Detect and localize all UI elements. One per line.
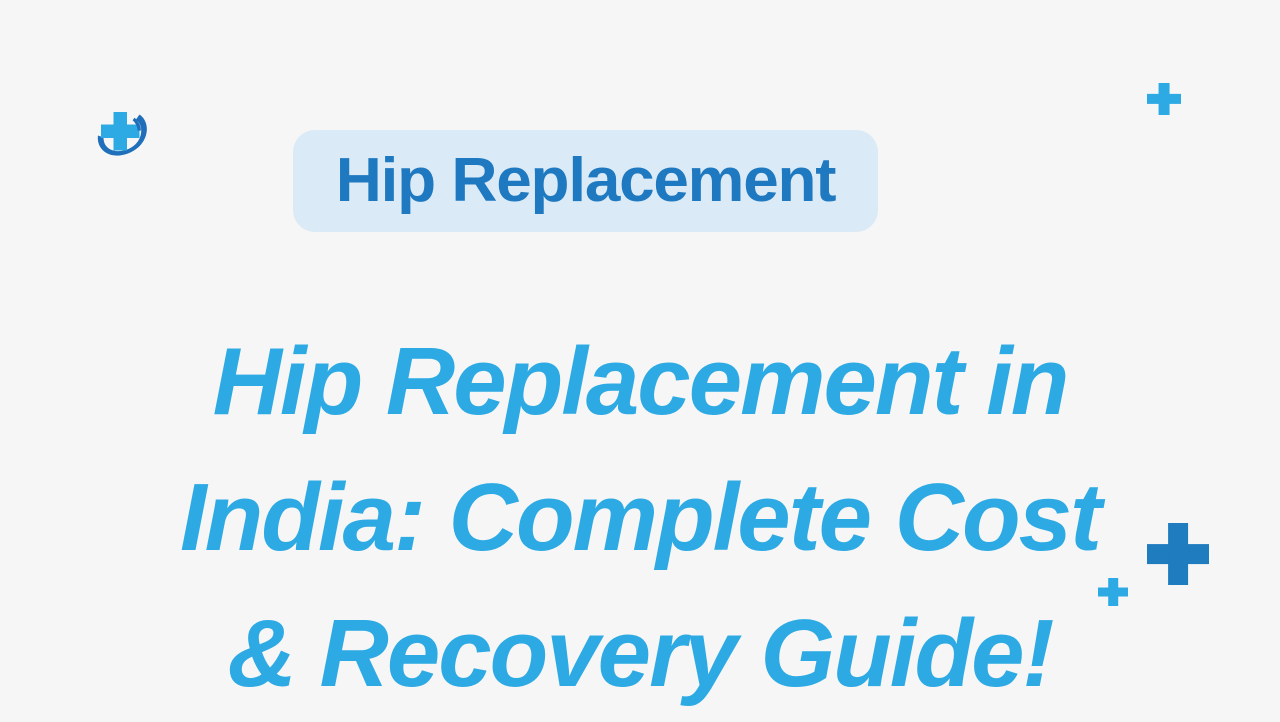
page-title-line-1: Hip Replacement in [0,314,1280,450]
page-title: Hip Replacement in India: Complete Cost … [0,314,1280,722]
page-title-line-3: & Recovery Guide! [0,586,1280,722]
slide-canvas: Hip Replacement Hip Replacement in India… [0,0,1280,720]
category-badge-label: Hip Replacement [336,150,836,212]
plus-icon-top-right [1147,83,1181,115]
plus-icon-inline [1098,578,1128,606]
medical-cross-swoosh-logo [93,108,151,162]
page-title-line-2: India: Complete Cost [0,450,1280,586]
category-badge: Hip Replacement [293,130,878,232]
plus-icon-large [1147,523,1209,585]
